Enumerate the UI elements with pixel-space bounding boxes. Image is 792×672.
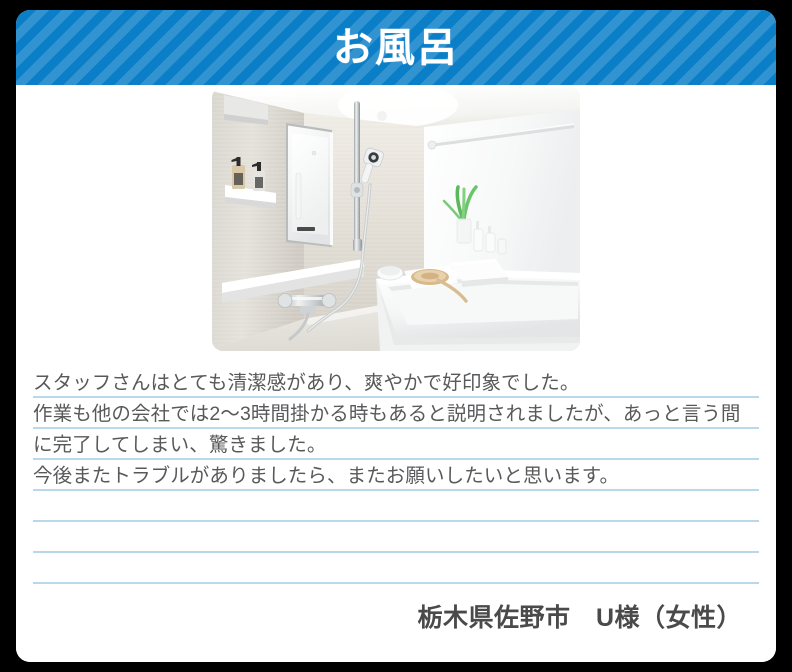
review-line: 作業も他の会社では2〜3時間掛かる時もあると説明されましたが、あっと言う間 [33,399,759,430]
reviewer-signature: 栃木県佐野市 U様（女性） [417,598,742,634]
page-title: お風呂 [333,28,459,68]
review-note: スタッフさんはとても清潔感があり、爽やかで好印象でした。作業も他の会社では2〜3… [33,368,759,578]
review-line: 今後またトラブルがありましたら、またお願いしたいと思います。 [33,461,759,492]
testimonial-card: お風呂 [16,10,776,662]
card-header: お風呂 [16,10,776,85]
review-line: に完了してしまい、驚きました。 [33,430,759,461]
rule-line [33,520,759,522]
card-body: スタッフさんはとても清潔感があり、爽やかで好印象でした。作業も他の会社では2〜3… [16,85,776,662]
rule-line [33,582,759,584]
bathroom-photo [212,87,580,351]
review-line: スタッフさんはとても清潔感があり、爽やかで好印象でした。 [33,368,759,399]
rule-line [33,551,759,553]
bathroom-photo-image [212,87,580,351]
